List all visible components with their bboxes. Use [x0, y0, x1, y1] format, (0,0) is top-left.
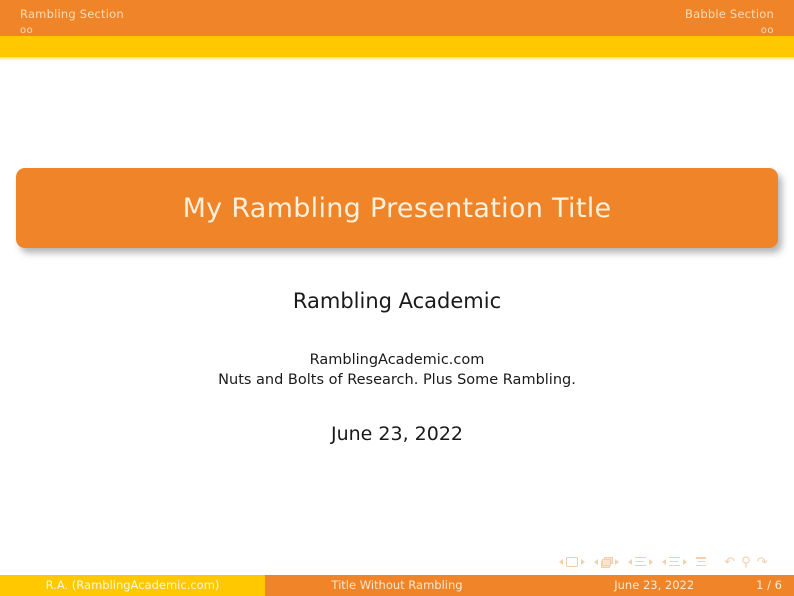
author-name: Rambling Academic [0, 289, 794, 313]
search-icon[interactable]: ⚲ [741, 557, 751, 568]
footer-title: Title Without Rambling [265, 575, 529, 596]
section-icon[interactable] [669, 557, 680, 568]
title-box: My Rambling Presentation Title [16, 168, 778, 248]
subsection-next-icon[interactable] [649, 559, 653, 565]
forward-icon[interactable]: ↷ [757, 557, 768, 568]
footer-author: R.A. (RamblingAcademic.com) [0, 575, 265, 596]
nav-group-presentation [696, 557, 707, 568]
institute-line-2: Nuts and Bolts of Research. Plus Some Ra… [0, 370, 794, 390]
back-icon[interactable]: ↶ [724, 557, 735, 568]
header-gold-band [0, 36, 794, 57]
section-dots-right[interactable]: oo [397, 21, 774, 36]
footer-page-number: 1 / 6 [756, 578, 782, 592]
slide-icon[interactable] [566, 557, 578, 567]
header-fade-shadow [0, 57, 794, 61]
footer-bar: R.A. (RamblingAcademic.com) Title Withou… [0, 575, 794, 596]
slide-prev-icon[interactable] [559, 559, 563, 565]
footer-date: June 23, 2022 [614, 578, 694, 592]
nav-group-slide [559, 557, 585, 567]
nav-group-history: ↶ ⚲ ↷ [723, 557, 769, 568]
frame-next-icon[interactable] [615, 559, 619, 565]
nav-group-section [662, 557, 687, 568]
frame-prev-icon[interactable] [594, 559, 598, 565]
institute-block: RamblingAcademic.com Nuts and Bolts of R… [0, 350, 794, 390]
header-section-right: Babble Section oo [397, 0, 794, 36]
slide-next-icon[interactable] [581, 559, 585, 565]
subsection-icon[interactable] [635, 557, 646, 568]
subsection-prev-icon[interactable] [628, 559, 632, 565]
footer-date-page: June 23, 20221 / 6 [529, 575, 794, 596]
section-title-left: Rambling Section [20, 0, 397, 21]
nav-group-frame [594, 557, 619, 568]
header-bar: Rambling Section oo Babble Section oo [0, 0, 794, 36]
section-next-icon[interactable] [683, 559, 687, 565]
section-title-right: Babble Section [397, 0, 774, 21]
section-prev-icon[interactable] [662, 559, 666, 565]
header-section-left: Rambling Section oo [0, 0, 397, 36]
slide-date: June 23, 2022 [0, 423, 794, 445]
section-dots-left[interactable]: oo [20, 21, 397, 36]
beamer-navigation-symbols: ↶ ⚲ ↷ [559, 553, 778, 571]
nav-group-subsection [628, 557, 653, 568]
institute-line-1: RamblingAcademic.com [0, 350, 794, 370]
page-title: My Rambling Presentation Title [183, 193, 612, 224]
frame-icon[interactable] [601, 557, 612, 568]
presentation-icon[interactable] [696, 557, 707, 568]
